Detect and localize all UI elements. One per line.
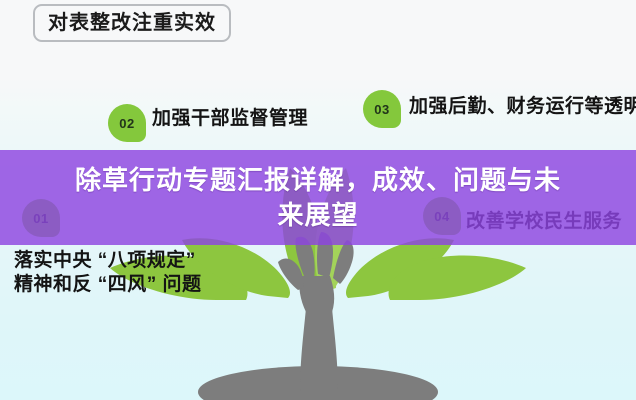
overlay-title: 除草行动专题汇报详解，成效、问题与未 来展望 [22,163,614,233]
item-badge-03: 03 [363,90,401,128]
item-label-01-line2: 精神和反 “四风” 问题 [14,273,202,297]
item-label-03: 加强后勤、财务运行等透明度 [409,95,636,119]
item-number-02: 02 [119,116,134,131]
header-pill-label: 对表整改注重实效 [48,13,216,33]
item-label-02: 加强干部监督管理 [152,107,308,131]
item-label-01: 落实中央 “八项规定” 精神和反 “四风” 问题 [14,249,202,298]
tree-trunk [300,308,338,392]
overlay-title-line2: 来展望 [277,200,358,230]
item-label-01-line1: 落实中央 “八项规定” [14,249,202,273]
item-number-03: 03 [374,102,389,117]
header-pill: 对表整改注重实效 [33,4,231,42]
title-overlay-band: 除草行动专题汇报详解，成效、问题与未 来展望 [0,150,636,245]
item-badge-02: 02 [108,104,146,142]
overlay-title-line1: 除草行动专题汇报详解，成效、问题与未 [75,165,561,195]
poster-image: 对表整改注重实效 02 加强干部监督管理 03 加强后勤、财务运行等透明度 01… [0,0,636,400]
